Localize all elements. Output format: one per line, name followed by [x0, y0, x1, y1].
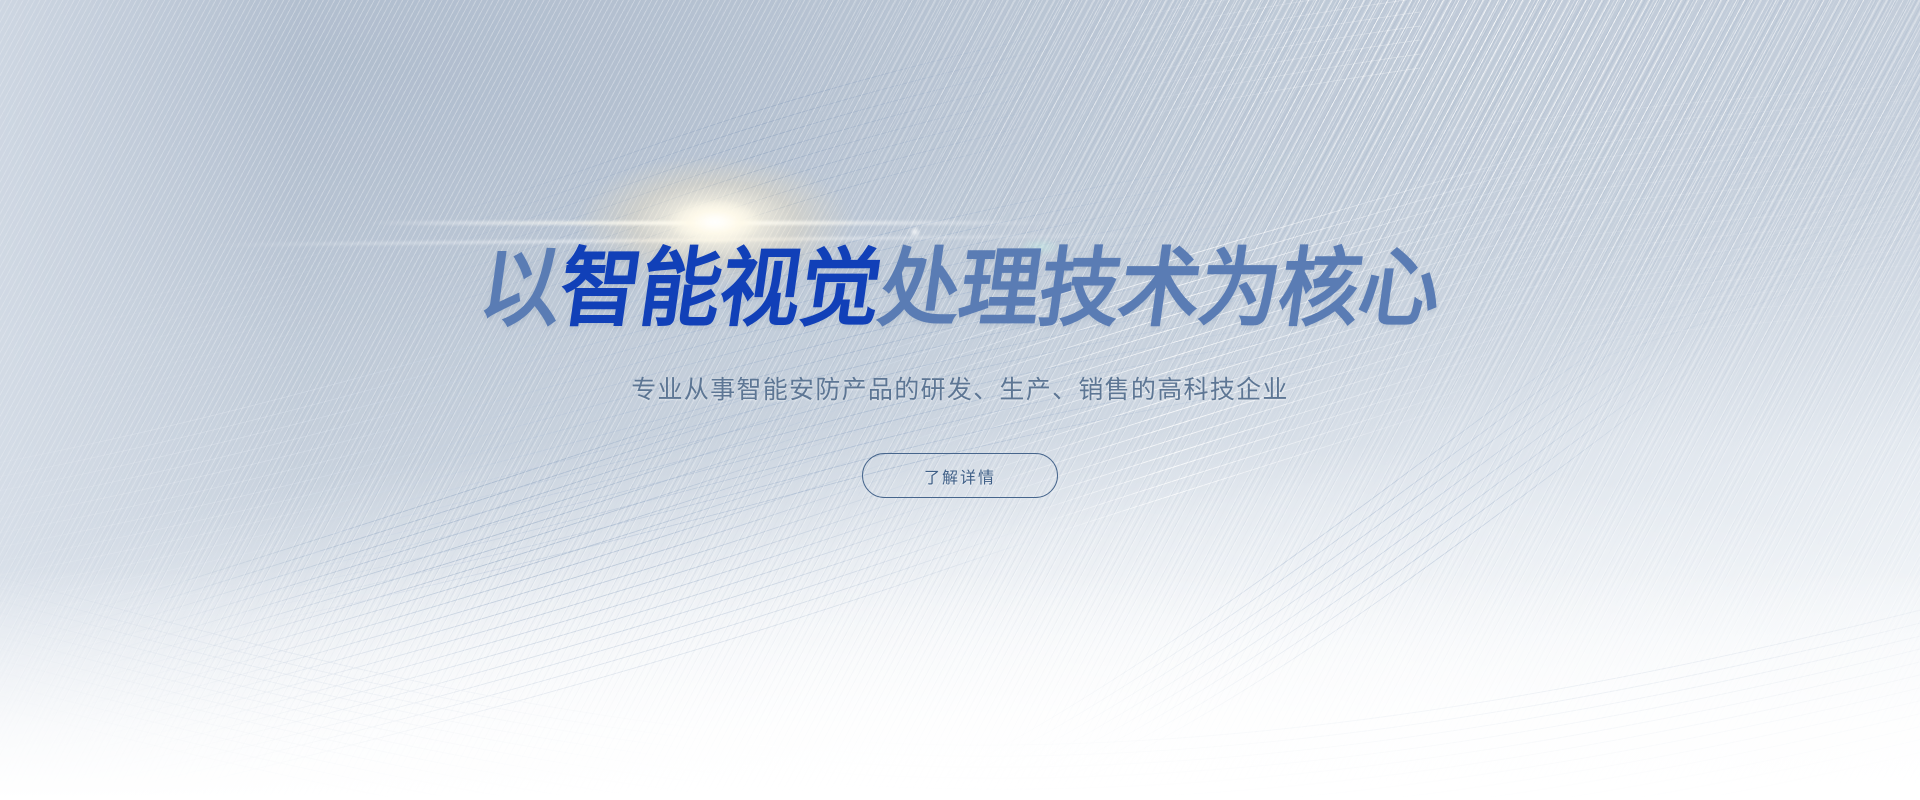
- learn-more-button[interactable]: 了解详情: [862, 453, 1058, 498]
- headline-segment-2: 智能视觉: [553, 239, 887, 339]
- hero-banner: 以智能视觉处理技术为核心 专业从事智能安防产品的研发、生产、销售的高科技企业 了…: [0, 0, 1920, 800]
- hero-subtitle: 专业从事智能安防产品的研发、生产、销售的高科技企业: [631, 375, 1289, 405]
- page-title: 以智能视觉处理技术为核心: [475, 246, 1446, 332]
- headline-segment-3: 处理技术为核心: [873, 239, 1446, 339]
- headline-segment-1: 以: [474, 239, 568, 339]
